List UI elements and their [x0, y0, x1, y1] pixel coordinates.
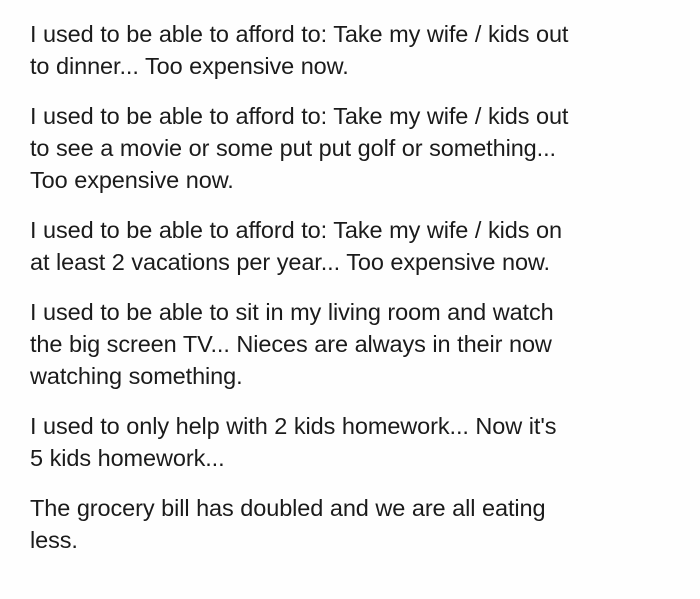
- text-post-body: I used to be able to afford to: Take my …: [0, 0, 700, 599]
- text-paragraph: The grocery bill has doubled and we are …: [30, 492, 672, 556]
- text-paragraph: I used to be able to afford to: Take my …: [30, 18, 672, 82]
- text-paragraph: I used to be able to afford to: Take my …: [30, 100, 672, 196]
- text-paragraph: I used to only help with 2 kids homework…: [30, 410, 672, 474]
- text-paragraph: I used to be able to afford to: Take my …: [30, 214, 672, 278]
- text-paragraph: I used to be able to sit in my living ro…: [30, 296, 672, 392]
